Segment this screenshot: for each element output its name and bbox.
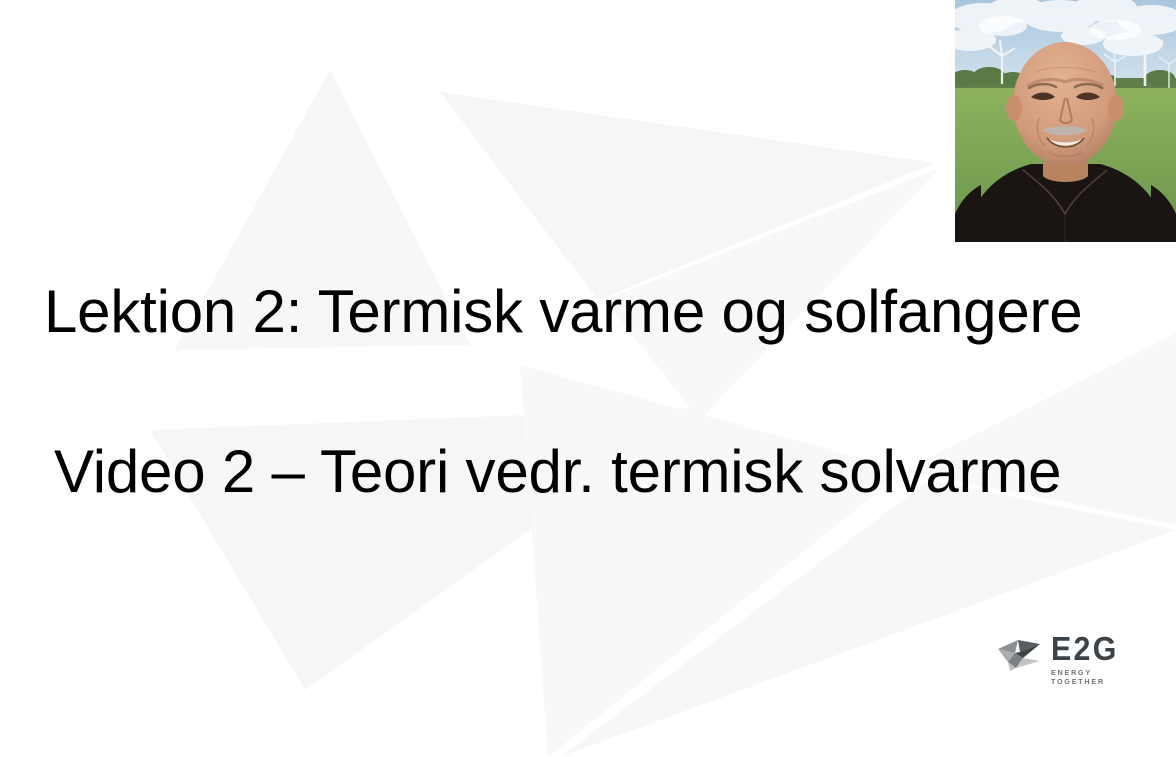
presentation-slide: Lektion 2: Termisk varme og solfangere V… [0,0,1176,757]
slide-subtitle-line-2: Video 2 – Teori vedr. termisk solvarme [54,438,1061,505]
e2g-logo: E2G ENERGY TOGETHER [996,632,1116,688]
e2g-origami-mark [996,635,1042,675]
logo-wordmark: E2G [1051,632,1119,665]
presenter-photo [955,0,1176,242]
logo-tagline: ENERGY TOGETHER [1051,668,1121,686]
slide-title-line-1: Lektion 2: Termisk varme og solfangere [44,278,1082,345]
logo-text-wrap: E2G ENERGY TOGETHER [1051,632,1125,686]
